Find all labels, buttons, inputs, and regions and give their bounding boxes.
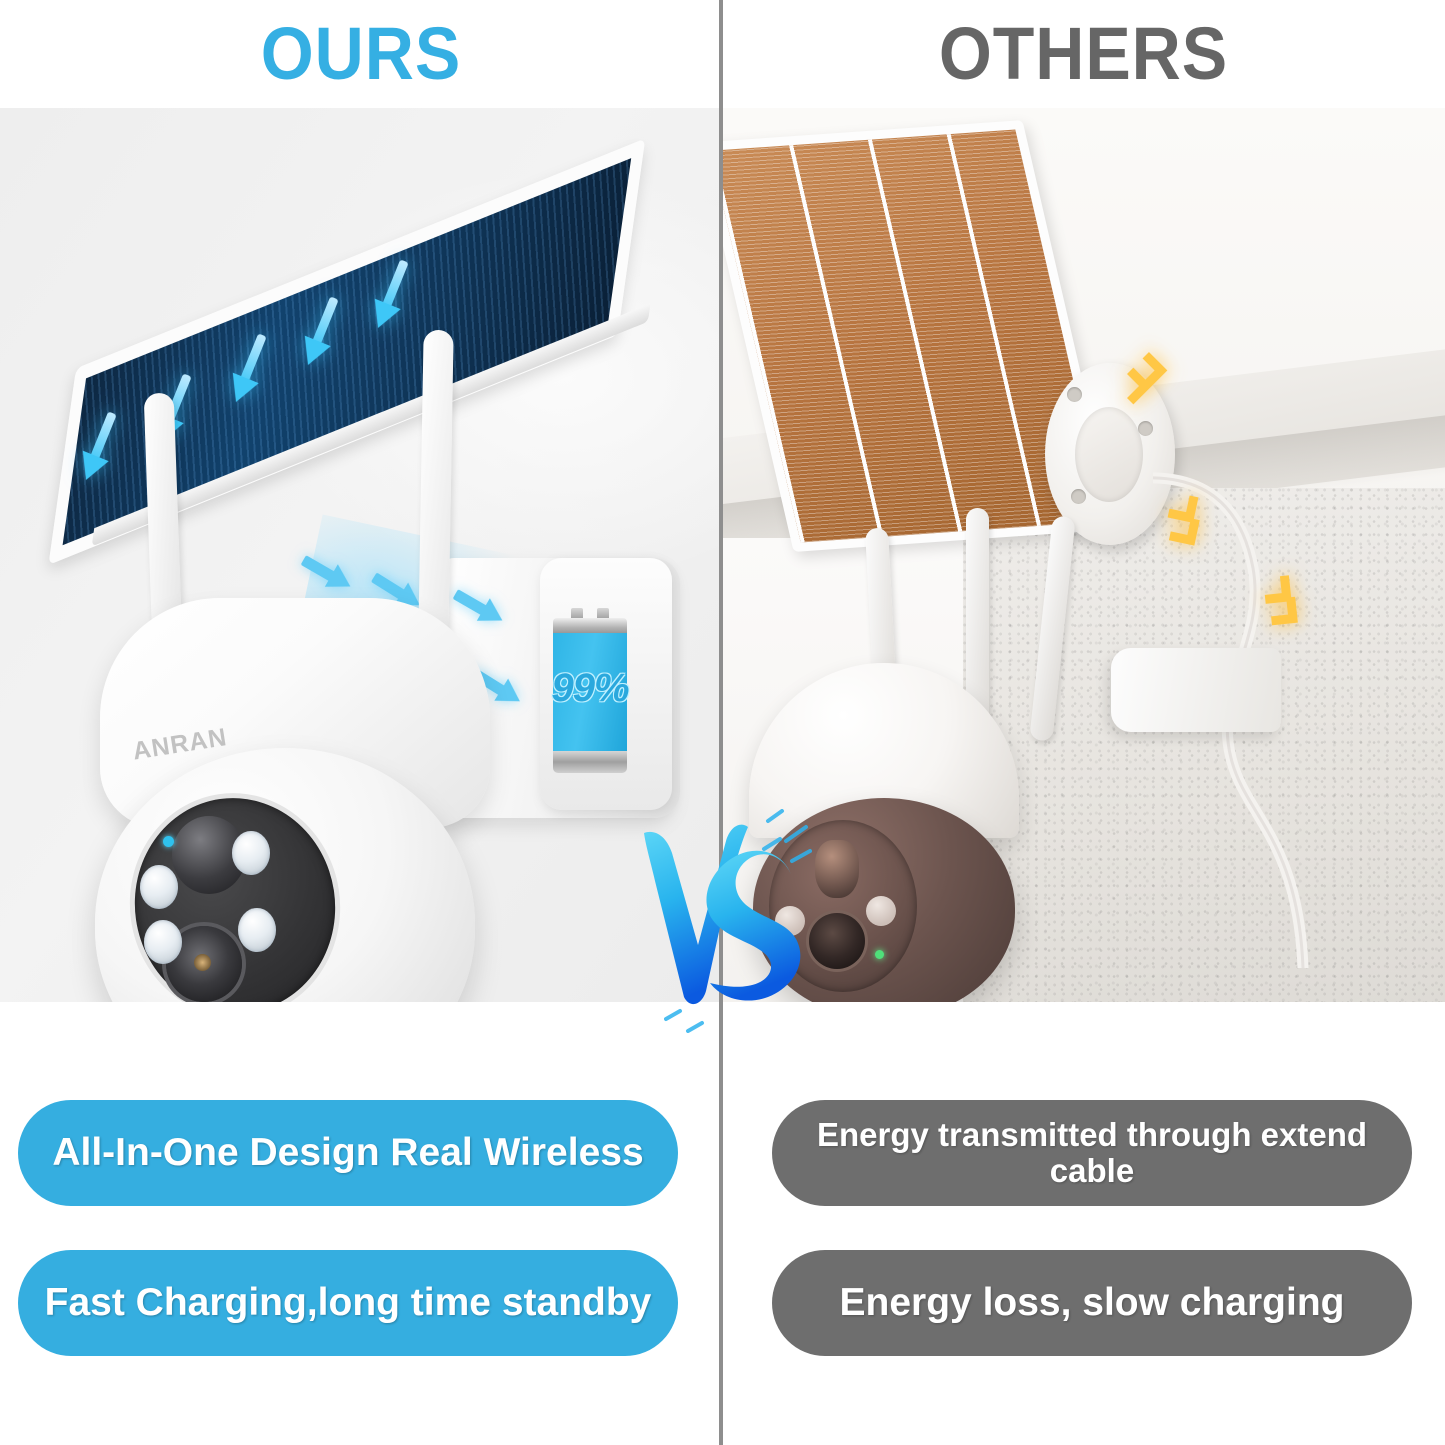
led-spotlight	[866, 896, 896, 926]
battery-percent-label: 99%	[548, 666, 632, 711]
battery-indicator: 99%	[553, 608, 627, 778]
led-spotlight	[232, 831, 270, 875]
main-lens	[809, 913, 865, 969]
header-title-others: OTHERS	[751, 6, 1416, 102]
status-indicator-light	[163, 836, 174, 847]
battery-base	[553, 751, 627, 773]
led-spotlight	[775, 906, 805, 936]
feature-pill-others-1: Energy transmitted through extend cable	[772, 1100, 1412, 1206]
status-indicator-light	[875, 950, 884, 959]
camera-mount-arm	[1111, 648, 1281, 732]
feature-pill-ours-1: All-In-One Design Real Wireless	[18, 1100, 678, 1206]
header-title-ours: OURS	[29, 6, 693, 102]
others-product-photo	[723, 108, 1445, 1002]
feature-pill-others-2: Energy loss, slow charging	[772, 1250, 1412, 1356]
comparison-divider	[719, 0, 723, 1445]
led-spotlight	[144, 920, 182, 964]
led-spotlight	[140, 865, 178, 909]
feature-pill-ours-2: Fast Charging,long time standby	[18, 1250, 678, 1356]
ours-product-photo: ANRAN 99%	[0, 108, 722, 1002]
dome-lens	[815, 840, 859, 898]
led-spotlight	[238, 908, 276, 952]
